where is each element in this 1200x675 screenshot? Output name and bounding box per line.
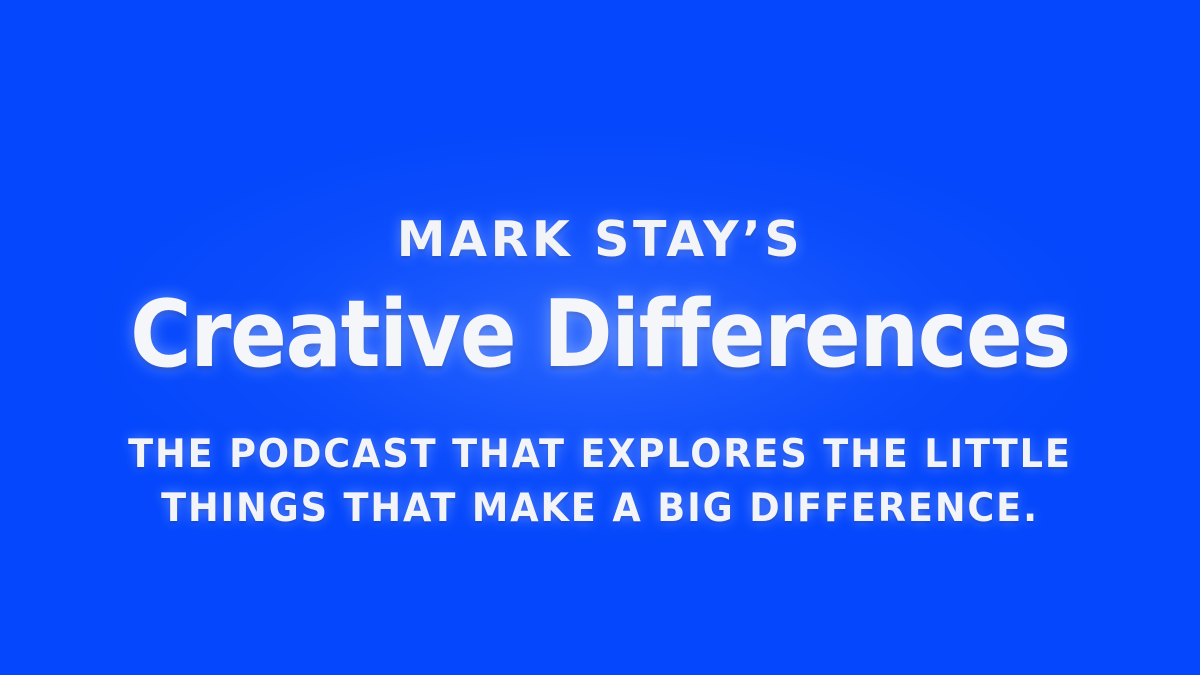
host-name-eyebrow: MARK STAY’S: [0, 215, 1200, 264]
show-title: Creative Differences: [60, 288, 1140, 381]
show-tagline-line-2: THINGS THAT MAKE A BIG DIFFERENCE.: [36, 482, 1164, 536]
podcast-cover-art: MARK STAY’S Creative Differences THE POD…: [0, 0, 1200, 675]
show-tagline: THE PODCAST THAT EXPLORES THE LITTLE THI…: [0, 428, 1200, 536]
show-tagline-line-1: THE PODCAST THAT EXPLORES THE LITTLE: [36, 428, 1164, 482]
